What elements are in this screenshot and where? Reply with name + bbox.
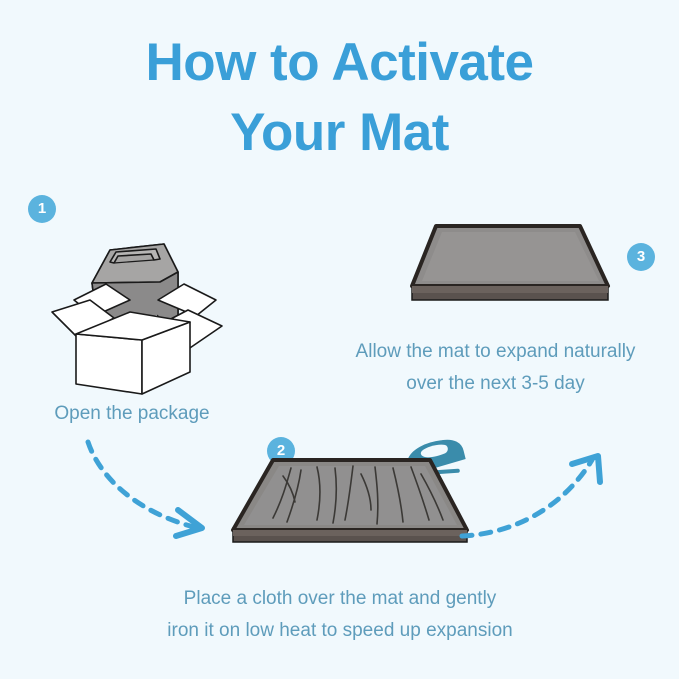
step-1-caption-line-1: Open the package xyxy=(0,398,264,430)
dashed-curved-arrow-up-right-icon xyxy=(460,438,615,543)
step-3-caption-line-1: Allow the mat to expand naturally xyxy=(312,336,679,368)
page-title: How to Activate Your Mat xyxy=(0,28,679,168)
flat-expanded-mat-illustration xyxy=(398,218,618,318)
mat-with-cloth-illustration xyxy=(225,450,475,565)
page-title-line-1: How to Activate xyxy=(0,28,679,98)
step-2-caption: Place a cloth over the mat and gently ir… xyxy=(105,583,575,647)
step-1-caption: Open the package xyxy=(0,398,264,430)
infographic-canvas: How to Activate Your Mat 1 xyxy=(0,0,679,679)
step-2-caption-line-1: Place a cloth over the mat and gently xyxy=(105,583,575,615)
step-3-caption-line-2: over the next 3-5 day xyxy=(312,368,679,400)
step-3-badge: 3 xyxy=(627,243,655,271)
step-3-caption: Allow the mat to expand naturally over t… xyxy=(312,336,679,400)
step-2-caption-line-2: iron it on low heat to speed up expansio… xyxy=(105,615,575,647)
page-title-line-2: Your Mat xyxy=(0,98,679,168)
open-box-illustration xyxy=(38,222,238,392)
dashed-curved-arrow-down-right-icon xyxy=(82,438,232,543)
step-1-badge: 1 xyxy=(28,195,56,223)
